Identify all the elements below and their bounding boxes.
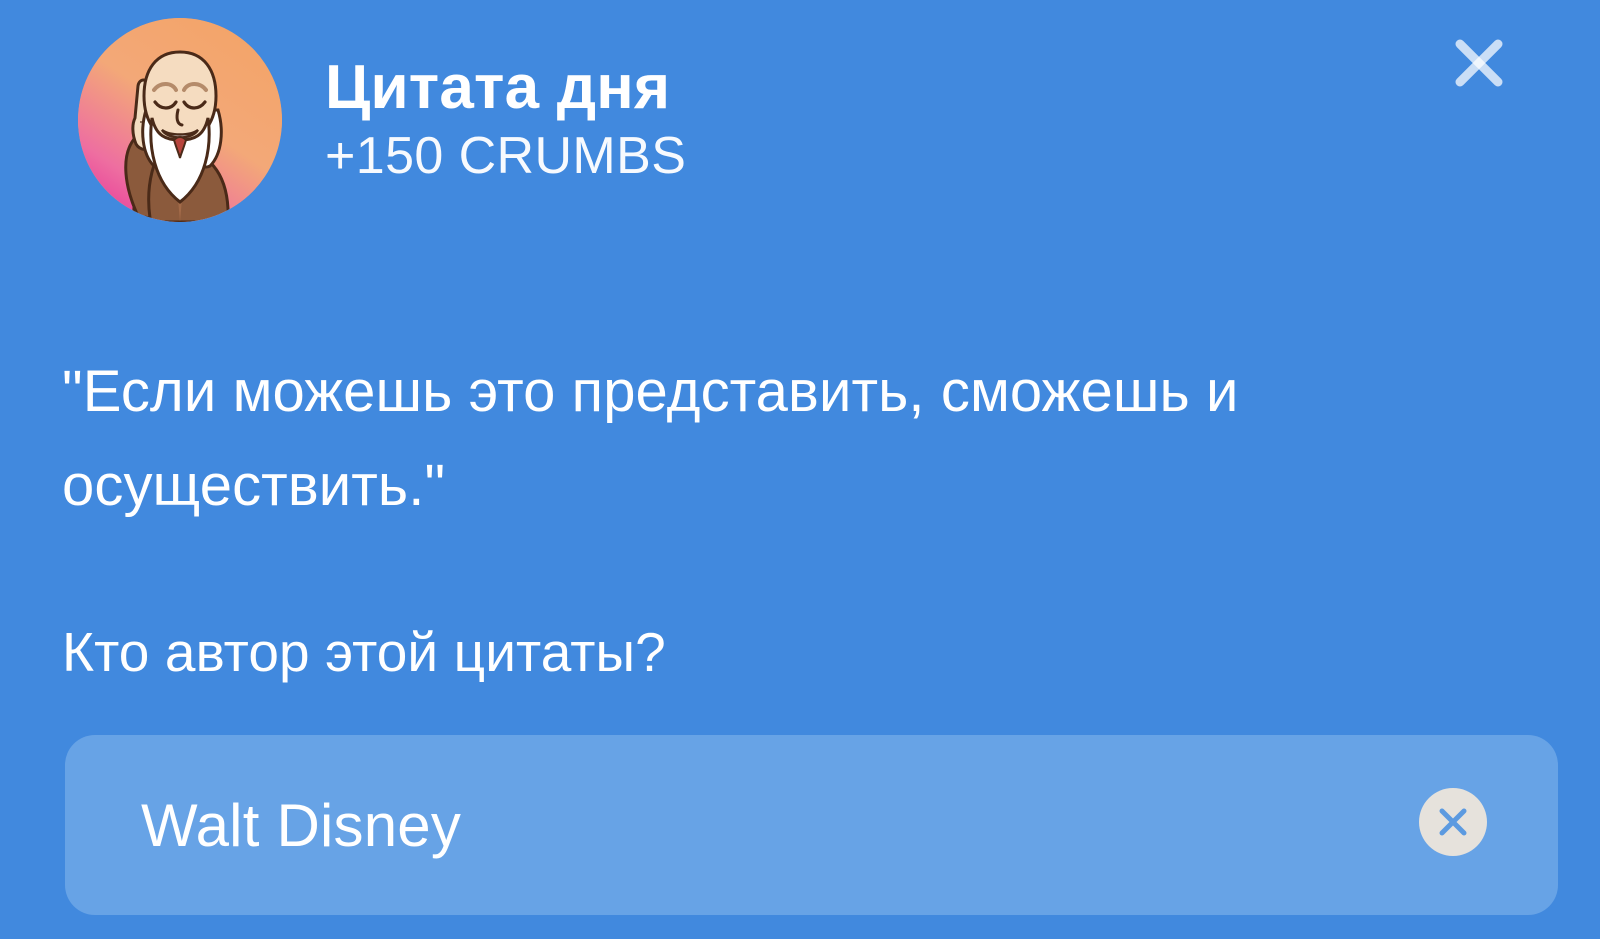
avatar — [78, 18, 282, 222]
answer-input-value[interactable]: Walt Disney — [141, 735, 1408, 915]
header-text-block: Цитата дня +150 CRUMBS — [325, 55, 686, 185]
quote-text: "Если можешь это представить, сможешь и … — [62, 345, 1482, 533]
question-text: Кто автор этой цитаты? — [62, 617, 1462, 689]
close-icon — [1434, 18, 1524, 108]
reward-badge: +150 CRUMBS — [325, 128, 686, 185]
page-title: Цитата дня — [325, 55, 686, 122]
sage-old-man-avatar-icon — [78, 18, 282, 222]
clear-circle-icon — [1419, 788, 1487, 856]
quote-of-the-day-modal: Цитата дня +150 CRUMBS "Если можешь это … — [0, 0, 1600, 939]
answer-input-field[interactable]: Walt Disney — [65, 735, 1558, 915]
clear-input-button[interactable] — [1419, 788, 1487, 856]
modal-header: Цитата дня +150 CRUMBS — [0, 0, 1600, 270]
close-button[interactable] — [1434, 18, 1524, 108]
